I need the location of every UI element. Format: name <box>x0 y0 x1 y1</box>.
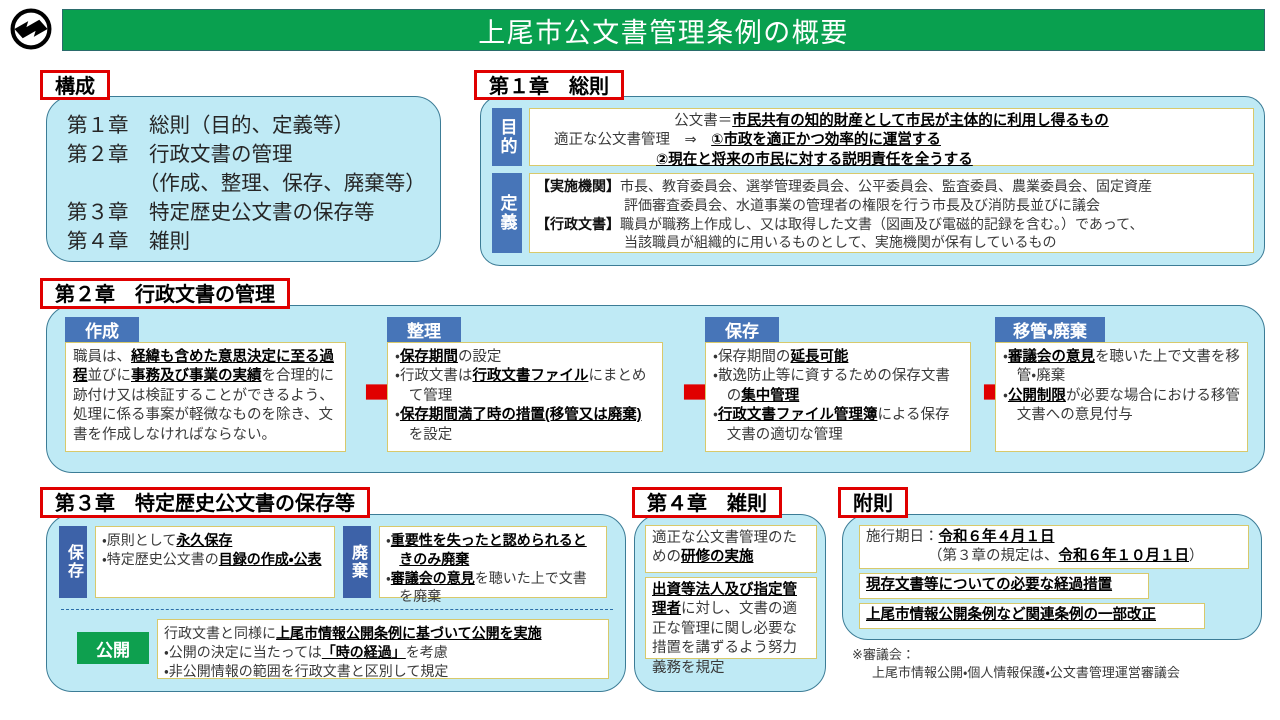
bullet-item: ・保存期間の設定 <box>395 348 655 367</box>
appendix-transitional-text: 現存文書等についての必要な経過措置 <box>866 577 1112 593</box>
chapter3-preserve-label: 保存 <box>59 526 87 598</box>
tag-chapter1: 第１章 総則 <box>474 70 624 100</box>
footnote-line-1: ※審議会： <box>852 646 1272 664</box>
step-transfer-discard-text: ・審議会の意見を聴いた上で文書を移管・廃棄・公開制限が必要な場合における移管文書… <box>1003 348 1240 426</box>
page-title: 上尾市公文書管理条例の概要 <box>478 11 849 50</box>
bullet-item: ・行政文書ファイル管理簿による保存文書の適切な管理 <box>713 406 963 445</box>
bullet-item: ・審議会の意見を聴いた上で文書を廃棄 <box>386 569 600 607</box>
chapter3-discard-label: 廃棄 <box>343 526 371 598</box>
tag-composition-label: 構成 <box>55 70 95 99</box>
bullet-item: ・散逸防止等に資するための保存文書の集中管理 <box>713 367 963 406</box>
panel-chapter2: 作成 職員は、経緯も含めた意思決定に至る過程並びに事務及び事業の実績を合理的に跡… <box>46 305 1265 473</box>
purpose-line2-prefix: 適正な公文書管理 ⇒ <box>554 132 711 148</box>
appendix-card-transitional: 現存文書等についての必要な経過措置 <box>859 573 1149 599</box>
bullet-item: ・行政文書は行政文書ファイルにまとめて管理 <box>395 367 655 406</box>
bullet-item: ・公開の決定に当たっては「時の経過」を考慮 <box>164 643 602 662</box>
step-card-transfer-discard: ・審議会の意見を聴いた上で文書を移管・廃棄・公開制限が必要な場合における移管文書… <box>995 342 1248 452</box>
bullet-item: ・原則として永久保存 <box>102 531 328 550</box>
tag-chapter1-label: 第１章 総則 <box>489 70 609 99</box>
header-bar: 上尾市公文書管理条例の概要 <box>62 9 1265 51</box>
bullet-item: ・特定歴史公文書の目録の作成・公表 <box>102 550 328 569</box>
appendix-date-emphasis: 令和６年４月１日 <box>939 529 1055 545</box>
chapter3-discard-card: ・重要性を失ったと認められるときのみ廃棄・審議会の意見を聴いた上で文書を廃棄 <box>379 526 607 598</box>
step-preservation-text: ・保存期間の延長可能・散逸防止等に資するための保存文書の集中管理・行政文書ファイ… <box>713 348 963 445</box>
appendix-card-amendment: 上尾市情報公開条例など関連条例の一部改正 <box>859 603 1205 629</box>
tag-chapter3: 第３章 特定歴史公文書の保存等 <box>40 487 370 518</box>
tag-chapter3-label: 第３章 特定歴史公文書の保存等 <box>55 487 355 516</box>
purpose-line3-emphasis: ②現在と将来の市民に対する説明責任を全うする <box>656 152 973 168</box>
tag-chapter4-label: 第４章 雑則 <box>647 487 767 516</box>
step-organize-text: ・保存期間の設定・行政文書は行政文書ファイルにまとめて管理・保存期間満了時の措置… <box>395 348 655 445</box>
appendix-footnote: ※審議会： 上尾市情報公開・個人情報保護・公文書管理運営審議会 <box>852 646 1272 682</box>
chapter4-card-1: 適正な公文書管理のための研修の実施 <box>645 525 817 573</box>
purpose-line1-emphasis: 市民共有の知的財産として市民が主体的に利用し得るもの <box>732 113 1109 129</box>
chapter3-divider <box>61 609 613 610</box>
tag-chapter2-label: 第２章 行政文書の管理 <box>55 278 275 307</box>
composition-line-3: （作成、整理、保存、廃棄等） <box>67 169 426 198</box>
panel-chapter4: 適正な公文書管理のための研修の実施 出資等法人及び指定管理者に対し、文書の適正な… <box>634 514 826 692</box>
panel-chapter3: 保存 ・原則として永久保存・特定歴史公文書の目録の作成・公表 廃棄 ・重要性を失… <box>46 514 626 692</box>
step-card-creation: 職員は、経緯も含めた意思決定に至る過程並びに事務及び事業の実績を合理的に跡付け又… <box>65 342 346 452</box>
composition-line-1: 第１章 総則（目的、定義等） <box>67 111 426 140</box>
step-label-creation: 作成 <box>65 317 139 342</box>
footnote-line-2: 上尾市情報公開・個人情報保護・公文書管理運営審議会 <box>852 664 1272 682</box>
chapter3-disclosure-label: 公開 <box>77 632 149 664</box>
step-card-preservation: ・保存期間の延長可能・散逸防止等に資するための保存文書の集中管理・行政文書ファイ… <box>705 342 971 452</box>
composition-line-2: 第２章 行政文書の管理 <box>67 140 426 169</box>
bullet-item: ・重要性を失ったと認められるときのみ廃棄 <box>386 531 600 569</box>
appendix-date-line2-prefix: （第３章の規定は、 <box>928 548 1059 564</box>
step-card-organize: ・保存期間の設定・行政文書は行政文書ファイルにまとめて管理・保存期間満了時の措置… <box>387 342 663 452</box>
definition-1-body: 市長、教育委員会、選挙管理委員会、公平委員会、監査委員、農業委員会、固定資産 <box>620 178 1152 194</box>
panel-chapter1: 目的 公文書＝市民共有の知的財産として市民が主体的に利用し得るもの 適正な公文書… <box>480 96 1265 266</box>
definition-1-cont: 評価審査委員会、水道事業の管理者の権限を行う市長及び消防長並びに議会 <box>624 197 1100 213</box>
panel-composition: 第１章 総則（目的、定義等） 第２章 行政文書の管理 （作成、整理、保存、廃棄等… <box>46 96 441 262</box>
panel-appendix: 施行期日：令和６年４月１日 （第３章の規定は、令和６年１０月１日） 現存文書等に… <box>842 514 1262 640</box>
chapter1-definition-card: 【実施機関】市長、教育委員会、選挙管理委員会、公平委員会、監査委員、農業委員会、… <box>529 173 1254 253</box>
chapter1-purpose-label: 目的 <box>492 108 522 166</box>
step-label-organize: 整理 <box>387 317 461 342</box>
tag-appendix-label: 附則 <box>853 487 893 516</box>
appendix-date-prefix: 施行期日： <box>866 529 939 545</box>
disclosure-head-emphasis: 上尾市情報公開条例に基づいて公開を実施 <box>276 625 542 641</box>
chapter4-card-2: 出資等法人及び指定管理者に対し、文書の適正な管理に関し必要な措置を講ずるよう努力… <box>645 577 817 659</box>
tag-chapter4: 第４章 雑則 <box>632 487 782 518</box>
tag-chapter2: 第２章 行政文書の管理 <box>40 278 290 309</box>
chapter1-purpose-card: 公文書＝市民共有の知的財産として市民が主体的に利用し得るもの 適正な公文書管理 … <box>529 108 1254 166</box>
appendix-card-effective-date: 施行期日：令和６年４月１日 （第３章の規定は、令和６年１０月１日） <box>859 525 1249 569</box>
slide-canvas: 上尾市公文書管理条例の概要 構成 第１章 総則（目的、定義等） 第２章 行政文書… <box>0 0 1280 720</box>
composition-line-4: 第３章 特定歴史公文書の保存等 <box>67 198 426 227</box>
bullet-item: ・非公開情報の範囲を行政文書と区別して規定 <box>164 662 602 681</box>
bullet-item: ・審議会の意見を聴いた上で文書を移管・廃棄 <box>1003 348 1240 387</box>
disclosure-head-prefix: 行政文書と同様に <box>164 625 276 641</box>
definition-2-cont: 当該職員が組織的に用いるものとして、実施機関が保有しているもの <box>624 234 1056 250</box>
chapter3-disclosure-card: 行政文書と同様に上尾市情報公開条例に基づいて公開を実施 ・公開の決定に当たっては… <box>157 619 609 679</box>
chapter3-preserve-card: ・原則として永久保存・特定歴史公文書の目録の作成・公表 <box>95 526 335 598</box>
step-label-transfer-discard: 移管・廃棄 <box>995 317 1105 342</box>
bullet-item: ・保存期間満了時の措置(移管又は廃棄)を設定 <box>395 406 655 445</box>
appendix-date-line2-post: ） <box>1189 548 1204 564</box>
definition-2-head: 【行政文書】 <box>536 216 620 232</box>
bullet-item: ・保存期間の延長可能 <box>713 348 963 367</box>
tag-appendix: 附則 <box>838 487 908 518</box>
appendix-amendment-text: 上尾市情報公開条例など関連条例の一部改正 <box>866 607 1156 623</box>
appendix-date-line2-emphasis: 令和６年１０月１日 <box>1059 548 1190 564</box>
step-label-preservation: 保存 <box>705 317 779 342</box>
ageo-city-emblem-icon <box>8 6 54 52</box>
composition-line-5: 第４章 雑則 <box>67 227 426 256</box>
step-creation-text: 職員は、経緯も含めた意思決定に至る過程並びに事務及び事業の実績を合理的に跡付け又… <box>73 348 338 445</box>
bullet-item: ・公開制限が必要な場合における移管文書への意見付与 <box>1003 387 1240 426</box>
definition-1-head: 【実施機関】 <box>536 178 620 194</box>
purpose-line1-prefix: 公文書＝ <box>674 113 732 129</box>
purpose-line2-emphasis: ①市政を適正かつ効率的に運営する <box>711 132 941 148</box>
definition-2-body: 職員が職務上作成し、又は取得した文書（図画及び電磁的記録を含む。）であって、 <box>620 216 1143 232</box>
tag-composition: 構成 <box>40 70 110 100</box>
chapter1-definition-label: 定義 <box>492 173 522 253</box>
